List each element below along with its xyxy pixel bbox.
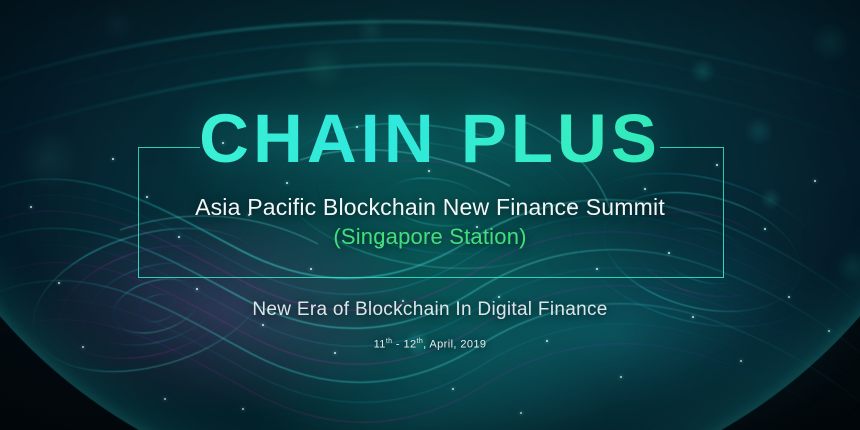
date-day-start: 11 [374,339,386,351]
date-separator: - [392,339,403,351]
event-poster: CHAIN PLUS Asia Pacific Blockchain New F… [0,0,860,430]
event-title: CHAIN PLUS [0,104,860,173]
event-station: (Singapore Station) [0,224,860,250]
poster-text-content: CHAIN PLUS Asia Pacific Blockchain New F… [0,0,860,430]
event-tagline: New Era of Blockchain In Digital Finance [0,299,860,321]
event-date: 11th - 12th, April, 2019 [0,338,860,351]
event-subtitle: Asia Pacific Blockchain New Finance Summ… [0,194,860,221]
date-day-end: 12 [403,339,416,351]
date-rest: , April, 2019 [423,339,486,351]
